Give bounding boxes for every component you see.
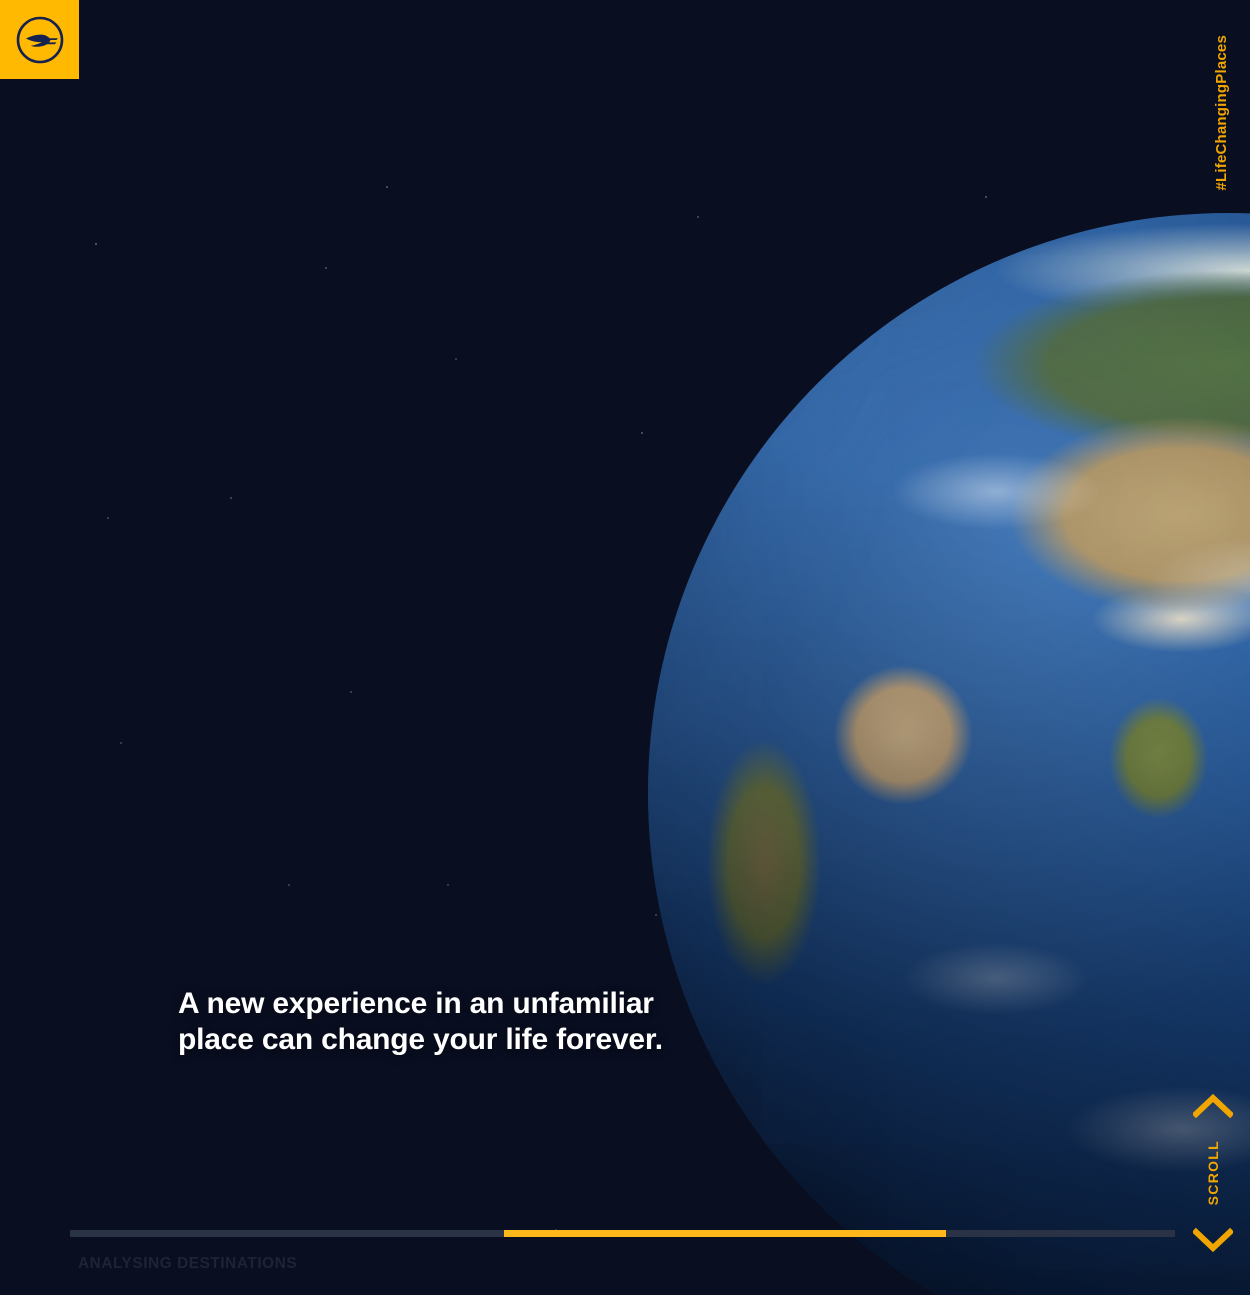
- globe-terminator-shading: [648, 213, 1250, 1295]
- atmosphere-outer-glow: [586, 151, 1250, 1295]
- crane-icon: [15, 15, 65, 65]
- scroll-label: SCROLL: [1205, 1140, 1221, 1205]
- loading-screen: #LifeChangingPlaces A new experience in …: [0, 0, 1250, 1295]
- loading-progress-fill: [504, 1230, 946, 1237]
- chevron-up-icon[interactable]: [1193, 1093, 1233, 1119]
- globe-surface: [648, 213, 1250, 1295]
- starfield: [0, 0, 1250, 1295]
- loading-status-text: ANALYSING DESTINATIONS: [78, 1255, 297, 1273]
- chevron-down-icon[interactable]: [1193, 1227, 1233, 1253]
- earth-globe: [648, 213, 1250, 1295]
- globe-rim-highlight-bottom: [648, 213, 1250, 1295]
- globe-rim-highlight-left: [648, 213, 1250, 1295]
- campaign-hashtag[interactable]: #LifeChangingPlaces: [1213, 35, 1230, 191]
- scroll-indicator[interactable]: SCROLL: [1188, 1093, 1238, 1253]
- atmosphere-glow: [614, 179, 1250, 1295]
- page-title: A new experience in an unfamiliar place …: [178, 986, 718, 1058]
- lufthansa-logo[interactable]: [0, 0, 79, 79]
- loading-progress-bar[interactable]: [70, 1230, 1175, 1237]
